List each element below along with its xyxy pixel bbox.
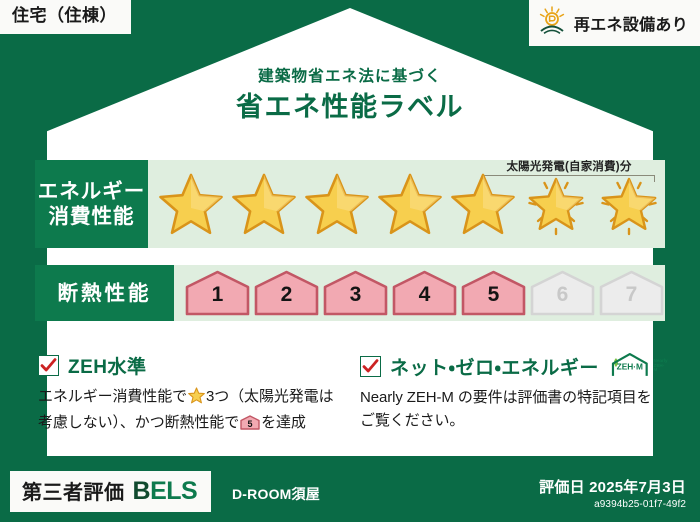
- zeh-desc-part1: エネルギー消費性能で: [38, 388, 187, 405]
- energy-label-line1: エネルギー: [38, 179, 146, 204]
- svg-text:ZEH·M: ZEH·M: [617, 361, 643, 371]
- insulation-performance-label: 断熱性能: [35, 265, 174, 321]
- insulation-level-house: 3: [322, 270, 389, 316]
- evaluation-id: a9394b25-01f7-49f2: [539, 499, 686, 510]
- zeh-standard-header: ZEH水準: [38, 352, 338, 379]
- zeh-m-logo-caption: Nearly ZEH-M: [654, 359, 668, 373]
- zeh-standard-panel: ZEH水準 エネルギー消費性能で3つ（太陽光発電は考慮しない）、かつ断熱性能で5…: [38, 352, 338, 437]
- bels-logo: BELS: [133, 477, 198, 506]
- insulation-level-house: 2: [253, 270, 320, 316]
- insulation-level-number: 5: [460, 284, 527, 305]
- category-tag-label: 住宅（住棟）: [12, 6, 117, 25]
- zeh-standard-title: ZEH水準: [68, 352, 147, 379]
- insulation-level-house-inactive: 6: [529, 270, 596, 316]
- net-zero-energy-header: ネット・ゼロ・エネルギー ZEH·M Nearly ZEH-M: [360, 352, 660, 380]
- energy-consumption-label: エネルギー 消費性能: [35, 160, 148, 248]
- energy-performance-label: 住宅（住棟） 再エネ設備あり 建築物省エネ法に基づく 省エネ性能ラベル: [0, 0, 700, 522]
- category-tag: 住宅（住棟）: [0, 0, 131, 34]
- bels-logo-b: B: [133, 477, 151, 505]
- insulation-level-house: 4: [391, 270, 458, 316]
- insulation-level-house: 1: [184, 270, 251, 316]
- bels-certification-badge: 第三者評価 BELS: [10, 471, 211, 512]
- third-party-eval-label: 第三者評価: [22, 476, 125, 505]
- insulation-level-number: 3: [322, 284, 389, 305]
- insulation-level-number: 7: [598, 284, 665, 305]
- net-zero-energy-title: ネット・ゼロ・エネルギー: [390, 353, 599, 380]
- renewable-badge-label: 再エネ設備あり: [574, 11, 688, 35]
- net-zero-energy-description: Nearly ZEH-M の要件は評価書の特記項目をご覧ください。: [360, 387, 660, 432]
- insulation-level-house-icon: 5: [240, 415, 260, 438]
- insulation-label-text: 断熱性能: [58, 281, 152, 306]
- page-title: 省エネ性能ラベル: [0, 85, 700, 124]
- energy-star-track: 太陽光発電(自家消費)分: [148, 160, 665, 248]
- energy-consumption-row: エネルギー 消費性能 太陽光発電(自家消費)分: [35, 160, 665, 248]
- star-solar-icon: [592, 165, 665, 243]
- zeh-desc-part2: 3つ（太陽光発電: [206, 388, 319, 405]
- zeh-m-logo-icon: ZEH·M Nearly ZEH-M: [610, 352, 668, 380]
- evaluation-date: 評価日 2025年7月3日: [539, 476, 686, 497]
- star-icon: [188, 387, 205, 412]
- insulation-level-track: 1 2 3 4 5 6 7: [174, 265, 665, 321]
- insulation-level-number: 1: [184, 284, 251, 305]
- insulation-level-number: 4: [391, 284, 458, 305]
- checkmark-icon: [360, 356, 381, 377]
- checkmark-icon: [38, 355, 59, 376]
- energy-label-line2: 消費性能: [49, 204, 135, 229]
- evaluation-info: 評価日 2025年7月3日 a9394b25-01f7-49f2: [539, 476, 686, 510]
- star-icon: [227, 165, 300, 243]
- star-icon: [373, 165, 446, 243]
- insulation-level-number: 6: [529, 284, 596, 305]
- star-icon: [300, 165, 373, 243]
- bels-logo-els: ELS: [150, 477, 197, 505]
- star-solar-icon: [519, 165, 592, 243]
- renewable-equipment-badge: 再エネ設備あり: [529, 0, 700, 46]
- solar-sun-icon: [537, 6, 567, 39]
- net-zero-energy-panel: ネット・ゼロ・エネルギー ZEH·M Nearly ZEH-M Nearly Z…: [360, 352, 660, 432]
- star-icon: [154, 165, 227, 243]
- insulation-level-house: 5: [460, 270, 527, 316]
- star-icon: [446, 165, 519, 243]
- svg-text:5: 5: [248, 419, 253, 429]
- zeh-standard-description: エネルギー消費性能で3つ（太陽光発電は考慮しない）、かつ断熱性能で5を達成: [38, 386, 338, 437]
- insulation-level-number: 2: [253, 284, 320, 305]
- insulation-performance-row: 断熱性能 1 2 3 4 5: [35, 265, 665, 321]
- zeh-m-caption-line2: ZEH-M: [654, 363, 665, 373]
- insulation-level-house-inactive: 7: [598, 270, 665, 316]
- star-rating-group: [154, 165, 665, 243]
- zeh-desc-part4: を達成: [261, 414, 306, 431]
- label-subtitle: 建築物省エネ法に基づく: [0, 64, 700, 86]
- building-name: D-ROOM須屋: [232, 484, 320, 504]
